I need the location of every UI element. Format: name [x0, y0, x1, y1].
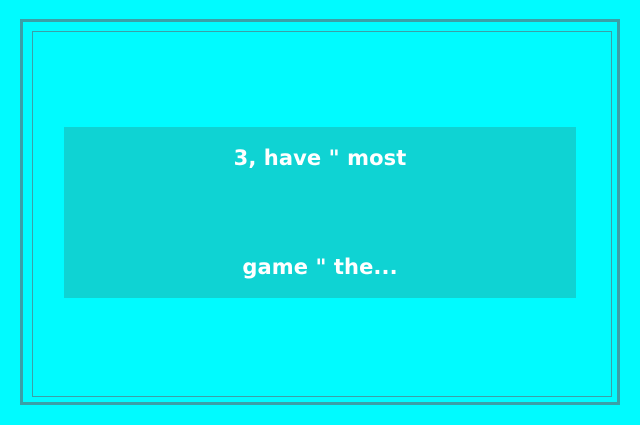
message-line-2: game " the...	[234, 249, 407, 285]
canvas-root: 3, have " most game " the...	[0, 0, 640, 425]
message-text-block: 3, have " most game " the...	[234, 68, 407, 357]
content-panel: 3, have " most game " the...	[64, 127, 576, 298]
message-line-1: 3, have " most	[234, 140, 407, 176]
